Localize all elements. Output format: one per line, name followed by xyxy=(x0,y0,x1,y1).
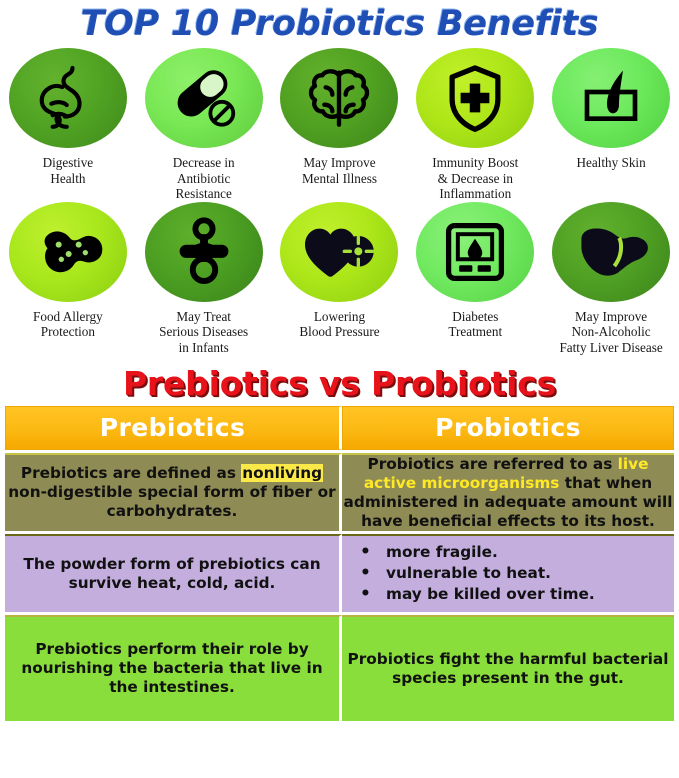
benefit-label: May TreatSerious Diseasesin Infants xyxy=(137,309,271,356)
table-row: Prebiotics perform their role by nourish… xyxy=(5,615,674,721)
benefit-item: Decrease inAntibioticResistance xyxy=(136,48,272,202)
list-item: more fragile. xyxy=(356,542,674,563)
table-header-probiotics: Probiotics xyxy=(342,406,674,450)
peanut-icon xyxy=(9,202,127,302)
benefit-item: LoweringBlood Pressure xyxy=(272,202,408,356)
shield-plus-icon xyxy=(416,48,534,148)
benefits-row-1: DigestiveHealth Decrease inAntibioticRes… xyxy=(0,48,679,202)
table-row: Prebiotics are defined as nonliving non-… xyxy=(5,453,674,531)
benefit-label: DigestiveHealth xyxy=(1,155,135,186)
benefit-label: Healthy Skin xyxy=(544,155,678,171)
benefit-label: Immunity Boost& Decrease inInflammation xyxy=(408,155,542,202)
cell-probiotics-role: Probiotics fight the harmful bacterial s… xyxy=(342,615,674,721)
hair-follicle-icon xyxy=(552,48,670,148)
list-item: vulnerable to heat. xyxy=(356,563,674,584)
benefit-item: May ImproveMental Illness xyxy=(272,48,408,202)
benefit-label: Food AllergyProtection xyxy=(1,309,135,340)
benefit-label: Decrease inAntibioticResistance xyxy=(137,155,271,202)
benefit-label: May ImproveNon-AlcoholicFatty Liver Dise… xyxy=(544,309,678,356)
comparison-table: Prebiotics Probiotics Prebiotics are def… xyxy=(5,406,674,721)
benefit-item: Immunity Boost& Decrease inInflammation xyxy=(407,48,543,202)
benefit-item: May ImproveNon-AlcoholicFatty Liver Dise… xyxy=(543,202,679,356)
benefit-item: DiabetesTreatment xyxy=(407,202,543,356)
cell-probiotics-definition: Probiotics are referred to as live activ… xyxy=(342,453,674,531)
highlighted-term: live active microorganisms xyxy=(364,455,649,492)
cell-prebiotics-definition: Prebiotics are defined as nonliving non-… xyxy=(5,453,342,531)
benefit-label: May ImproveMental Illness xyxy=(272,155,406,186)
intestines-icon xyxy=(9,48,127,148)
cell-prebiotics-role: Prebiotics perform their role by nourish… xyxy=(5,615,342,721)
page-title: TOP 10 Probiotics Benefits xyxy=(0,0,679,48)
cell-probiotics-stability: more fragile.vulnerable to heat.may be k… xyxy=(342,534,674,612)
brain-icon xyxy=(280,48,398,148)
highlighted-term: nonliving xyxy=(241,464,323,482)
pill-capsule-icon xyxy=(145,48,263,148)
pacifier-icon xyxy=(145,202,263,302)
table-header-row: Prebiotics Probiotics xyxy=(5,406,674,450)
benefit-item: Healthy Skin xyxy=(543,48,679,202)
section-title: Prebiotics vs Probiotics xyxy=(0,362,679,406)
benefit-item: Food AllergyProtection xyxy=(0,202,136,356)
liver-icon xyxy=(552,202,670,302)
benefits-grid: DigestiveHealth Decrease inAntibioticRes… xyxy=(0,48,679,356)
list-item: may be killed over time. xyxy=(356,584,674,605)
benefit-label: DiabetesTreatment xyxy=(408,309,542,340)
heart-icon xyxy=(280,202,398,302)
bullet-list: more fragile.vulnerable to heat.may be k… xyxy=(342,542,674,605)
benefits-row-2: Food AllergyProtection May TreatSerious … xyxy=(0,202,679,356)
cell-prebiotics-stability: The powder form of prebiotics can surviv… xyxy=(5,534,342,612)
benefit-item: DigestiveHealth xyxy=(0,48,136,202)
table-row: The powder form of prebiotics can surviv… xyxy=(5,534,674,612)
infographic-root: TOP 10 Probiotics Benefits DigestiveHeal… xyxy=(0,0,679,721)
table-header-prebiotics: Prebiotics xyxy=(5,406,342,450)
glucose-meter-icon xyxy=(416,202,534,302)
benefit-label: LoweringBlood Pressure xyxy=(272,309,406,340)
benefit-item: May TreatSerious Diseasesin Infants xyxy=(136,202,272,356)
